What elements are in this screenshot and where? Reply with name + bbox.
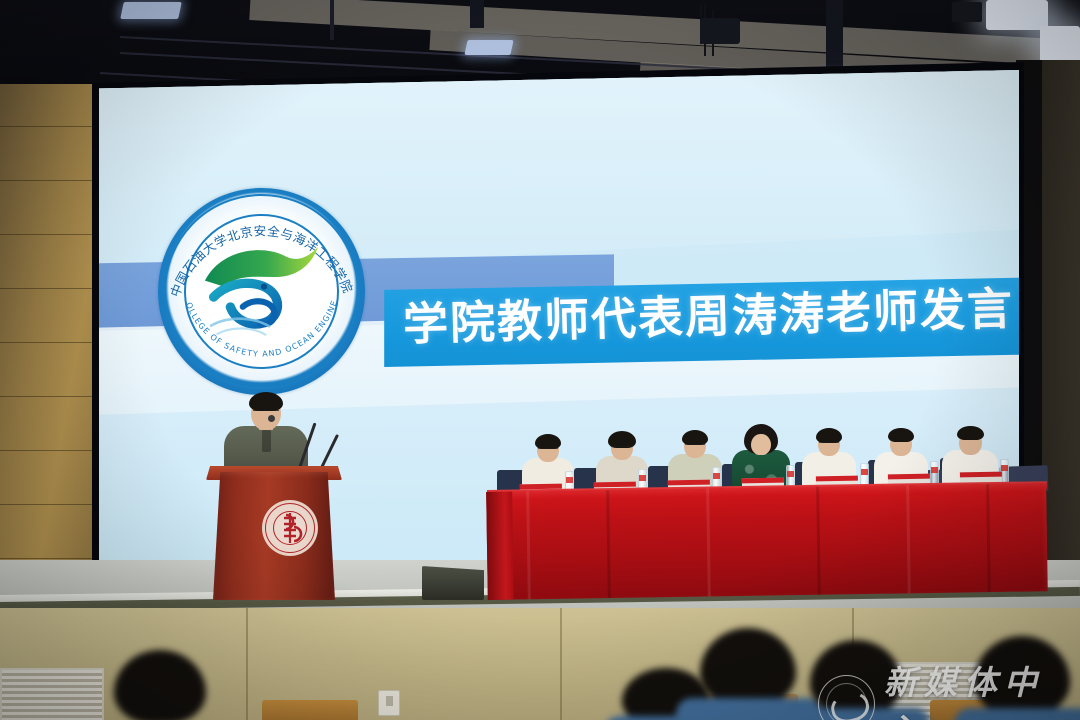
college-emblem: 中国石油大学北京安全与海洋工程学院 CUP COLLEGE OF SAFETY …	[156, 185, 368, 397]
eyeglasses-icon	[253, 410, 279, 416]
speaker-hair	[249, 392, 283, 411]
podium-emblem-mark	[262, 500, 318, 556]
audience-chair-back	[262, 700, 358, 720]
head-table-cloth	[486, 483, 1048, 600]
emblem-wave-fish-art	[198, 236, 325, 346]
eyeglasses-icon	[612, 446, 632, 452]
stage-lamp-icon	[986, 0, 1048, 30]
wall-vent-grille	[0, 668, 104, 720]
stage-monitor-speaker	[422, 566, 484, 600]
wall-switch-plate	[378, 690, 400, 716]
head-table-drape	[486, 492, 514, 600]
left-wood-wall	[0, 84, 108, 604]
audience-member-4	[792, 640, 920, 720]
screenshot-root: 学院教师代表周涛涛老师发言 中国石油大学北京安全与海洋工程学院 CUP COLL…	[0, 0, 1080, 720]
microphone-head-icon	[268, 415, 275, 422]
eyeglasses-icon	[538, 448, 558, 454]
ceiling-light-icon	[120, 2, 182, 19]
eyeglasses-icon	[685, 444, 705, 450]
stage-lamp-icon	[1040, 26, 1080, 62]
ceiling-light-icon	[464, 40, 513, 55]
university-emblem-podium	[262, 500, 318, 556]
audience-member-5	[960, 636, 1080, 720]
eyeglasses-icon	[819, 442, 839, 448]
audience-member-1	[96, 650, 226, 720]
